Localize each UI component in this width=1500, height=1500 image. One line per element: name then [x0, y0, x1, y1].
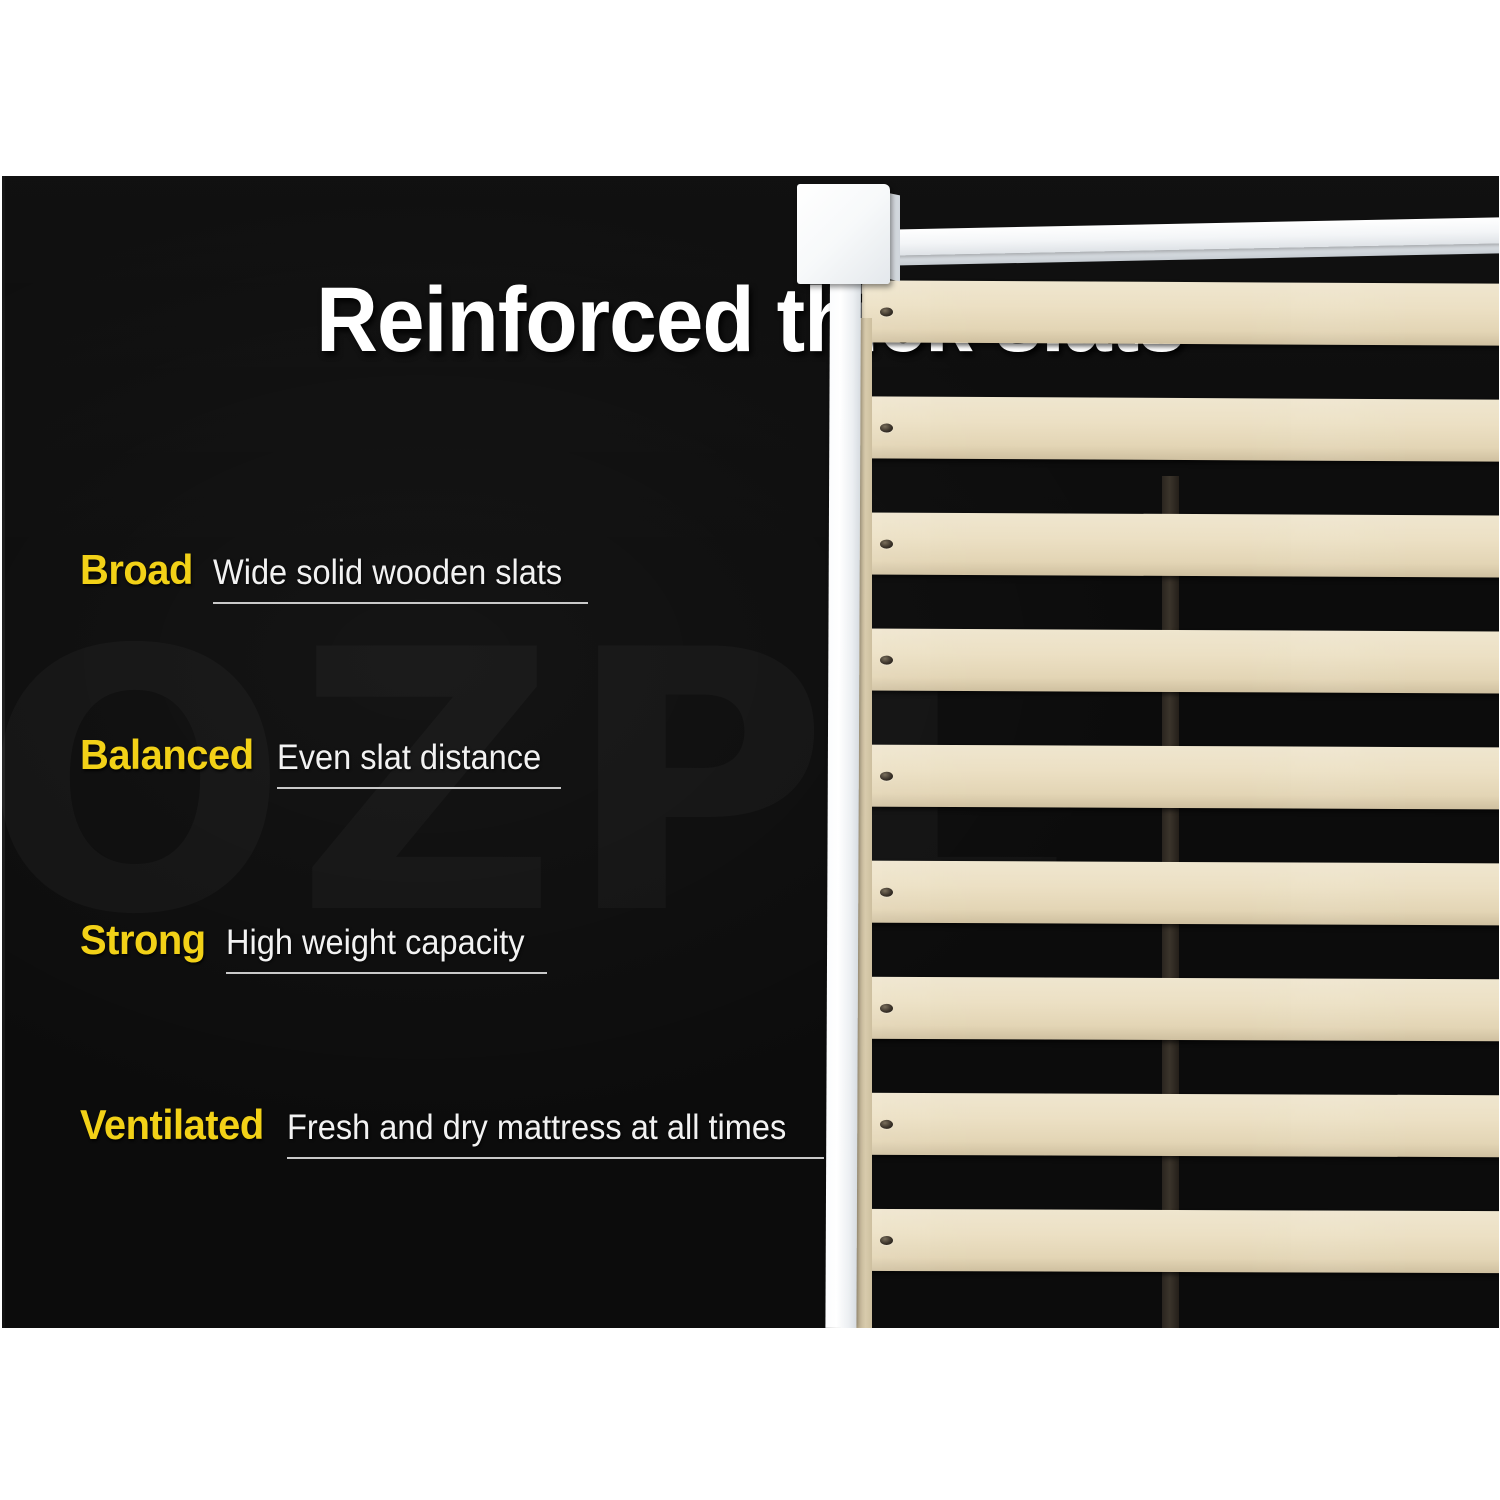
slat-screw — [880, 540, 893, 549]
wooden-slat — [862, 861, 1499, 926]
feature-key-strong: Strong — [80, 916, 206, 964]
page-root: OZPLAZA Reinforced thick slats Broad Wid… — [0, 0, 1500, 1500]
wooden-slat — [862, 629, 1499, 694]
feature-key-broad: Broad — [80, 546, 193, 594]
feature-value-ventilated: Fresh and dry mattress at all times — [287, 1108, 786, 1148]
slat-screw — [880, 423, 893, 432]
white-corner-post — [797, 184, 890, 284]
slat-wood-grain — [862, 512, 1499, 577]
feature-underline-ventilated: Fresh and dry mattress at all times — [287, 1108, 824, 1159]
wooden-slat — [862, 396, 1499, 461]
feature-value-strong: High weight capacity — [226, 923, 525, 963]
feature-item-strong: Strong High weight capacity — [80, 916, 547, 974]
product-photo — [788, 176, 1499, 1328]
wooden-slat — [862, 1209, 1499, 1273]
wooden-slat — [862, 512, 1499, 577]
feature-value-balanced: Even slat distance — [277, 738, 541, 778]
feature-underline-strong: High weight capacity — [226, 923, 547, 974]
slat-screw — [880, 656, 893, 665]
photo-bottom-edge — [788, 1322, 1499, 1328]
feature-key-ventilated: Ventilated — [80, 1101, 264, 1149]
slat-wood-grain — [862, 977, 1499, 1042]
wooden-slat — [862, 977, 1499, 1042]
slat-wood-grain — [862, 396, 1499, 461]
slat-wood-grain — [862, 280, 1499, 345]
wooden-slat — [862, 745, 1499, 810]
feature-item-balanced: Balanced Even slat distance — [80, 731, 561, 789]
slat-screw — [880, 1004, 893, 1013]
slat-wood-grain — [862, 861, 1499, 926]
wooden-slat — [862, 1093, 1499, 1157]
slat-wood-grain — [862, 629, 1499, 694]
slat-screw — [880, 888, 893, 897]
feature-underline-broad: Wide solid wooden slats — [213, 553, 588, 604]
slat-screw — [880, 307, 893, 316]
slat-screw — [880, 772, 893, 781]
feature-underline-balanced: Even slat distance — [277, 738, 561, 789]
feature-panel: OZPLAZA Reinforced thick slats Broad Wid… — [2, 176, 1499, 1328]
feature-key-balanced: Balanced — [80, 731, 254, 779]
slat-wood-grain — [862, 745, 1499, 810]
slat-wood-grain — [862, 1093, 1499, 1157]
feature-value-broad: Wide solid wooden slats — [213, 553, 562, 593]
wooden-slat — [862, 280, 1499, 345]
slat-screw — [880, 1120, 893, 1129]
feature-item-ventilated: Ventilated Fresh and dry mattress at all… — [80, 1101, 824, 1159]
feature-item-broad: Broad Wide solid wooden slats — [80, 546, 588, 604]
white-side-rail — [825, 276, 861, 1328]
slat-screw — [880, 1236, 893, 1245]
slat-wood-grain — [862, 1209, 1499, 1273]
